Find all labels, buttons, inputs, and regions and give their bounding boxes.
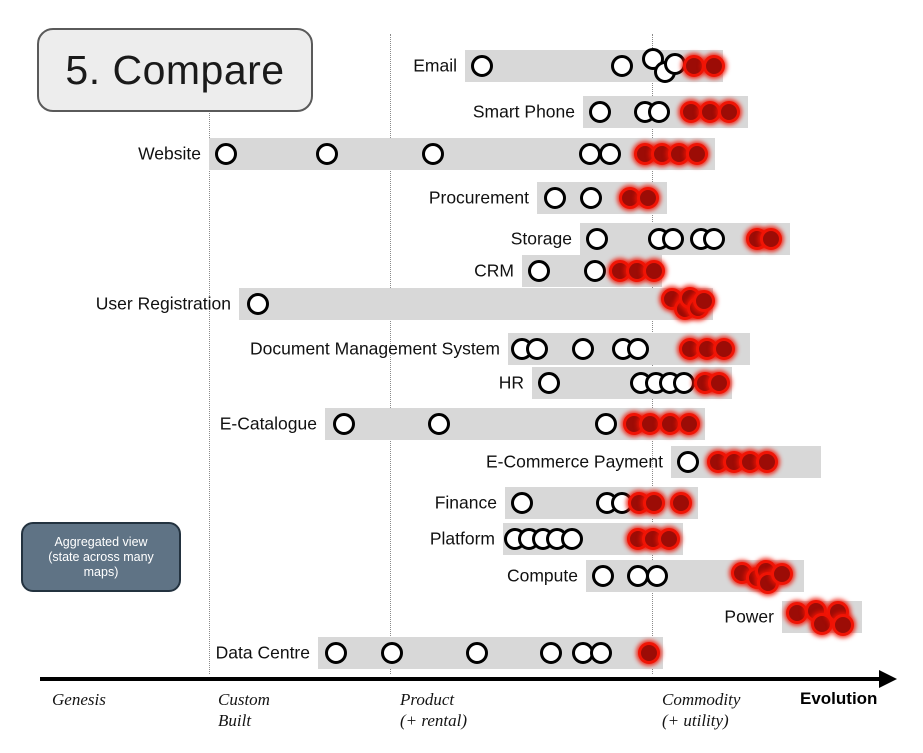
row-range-bar (239, 288, 713, 320)
commodity-dot[interactable] (832, 614, 854, 636)
component-dot[interactable] (595, 413, 617, 435)
component-row[interactable]: Power (0, 601, 923, 633)
evolution-axis-title: Evolution (800, 689, 877, 709)
component-dot[interactable] (599, 143, 621, 165)
axis-stage-custom: Custom Built (218, 689, 270, 731)
commodity-dot[interactable] (718, 101, 740, 123)
component-dot[interactable] (511, 492, 533, 514)
component-dot[interactable] (528, 260, 550, 282)
component-row[interactable]: Document Management System (0, 333, 923, 365)
component-dot[interactable] (580, 187, 602, 209)
component-dot[interactable] (648, 101, 670, 123)
component-dot[interactable] (662, 228, 684, 250)
component-dot[interactable] (561, 528, 583, 550)
component-row[interactable]: Email (0, 50, 923, 82)
component-dot[interactable] (471, 55, 493, 77)
component-dot[interactable] (592, 565, 614, 587)
component-dot[interactable] (586, 228, 608, 250)
commodity-dot[interactable] (703, 55, 725, 77)
commodity-dot[interactable] (708, 372, 730, 394)
commodity-dot[interactable] (683, 55, 705, 77)
component-dot[interactable] (572, 338, 594, 360)
component-dot[interactable] (540, 642, 562, 664)
commodity-dot[interactable] (643, 260, 665, 282)
component-row[interactable]: User Registration (0, 288, 923, 320)
note-line-2: (state across many (48, 550, 154, 565)
wardley-compare-diagram: 5. Compare EmailSmart PhoneWebsiteProcur… (0, 0, 923, 753)
commodity-dot[interactable] (760, 228, 782, 250)
component-row[interactable]: Smart Phone (0, 96, 923, 128)
component-row[interactable]: Website (0, 138, 923, 170)
commodity-dot[interactable] (670, 492, 692, 514)
axis-stage-commodity: Commodity (+ utility) (662, 689, 740, 731)
row-label: Document Management System (250, 339, 500, 360)
row-label: HR (499, 373, 524, 394)
component-dot[interactable] (589, 101, 611, 123)
commodity-dot[interactable] (686, 143, 708, 165)
component-dot[interactable] (627, 338, 649, 360)
row-label: Email (413, 56, 457, 77)
commodity-dot[interactable] (678, 413, 700, 435)
component-row[interactable]: E-Catalogue (0, 408, 923, 440)
component-row[interactable]: Finance (0, 487, 923, 519)
component-row[interactable]: CRM (0, 255, 923, 287)
component-row[interactable]: Procurement (0, 182, 923, 214)
component-dot[interactable] (325, 642, 347, 664)
aggregated-view-note: Aggregated view (state across many maps) (21, 522, 181, 592)
commodity-dot[interactable] (639, 413, 661, 435)
row-label: E-Commerce Payment (486, 452, 663, 473)
row-label: Website (138, 144, 201, 165)
row-label: Data Centre (216, 643, 310, 664)
component-dot[interactable] (538, 372, 560, 394)
component-dot[interactable] (677, 451, 699, 473)
row-label: E-Catalogue (220, 414, 317, 435)
component-row[interactable]: HR (0, 367, 923, 399)
row-label: Compute (507, 566, 578, 587)
row-label: Smart Phone (473, 102, 575, 123)
evolution-axis-arrow-icon (879, 670, 897, 688)
row-label: Platform (430, 529, 495, 550)
commodity-dot[interactable] (658, 528, 680, 550)
component-row[interactable]: Data Centre (0, 637, 923, 669)
component-dot[interactable] (526, 338, 548, 360)
component-dot[interactable] (316, 143, 338, 165)
component-dot[interactable] (466, 642, 488, 664)
row-label: CRM (474, 261, 514, 282)
commodity-dot[interactable] (756, 451, 778, 473)
component-dot[interactable] (611, 55, 633, 77)
component-dot[interactable] (544, 187, 566, 209)
commodity-dot[interactable] (771, 563, 793, 585)
row-label: Finance (435, 493, 497, 514)
component-dot[interactable] (590, 642, 612, 664)
commodity-dot[interactable] (637, 187, 659, 209)
component-dot[interactable] (381, 642, 403, 664)
component-dot[interactable] (215, 143, 237, 165)
note-line-1: Aggregated view (54, 535, 147, 550)
commodity-dot[interactable] (713, 338, 735, 360)
commodity-dot[interactable] (643, 492, 665, 514)
row-label: Procurement (429, 188, 529, 209)
component-dot[interactable] (333, 413, 355, 435)
note-line-3: maps) (84, 565, 119, 580)
component-dot[interactable] (422, 143, 444, 165)
evolution-axis-line (40, 677, 885, 681)
component-dot[interactable] (428, 413, 450, 435)
axis-stage-product: Product (+ rental) (400, 689, 467, 731)
component-dot[interactable] (673, 372, 695, 394)
row-label: Power (724, 607, 774, 628)
component-dot[interactable] (646, 565, 668, 587)
component-dot[interactable] (703, 228, 725, 250)
component-dot[interactable] (247, 293, 269, 315)
row-label: User Registration (96, 294, 231, 315)
component-row[interactable]: Storage (0, 223, 923, 255)
component-dot[interactable] (584, 260, 606, 282)
row-label: Storage (511, 229, 572, 250)
commodity-dot[interactable] (638, 642, 660, 664)
component-row[interactable]: E-Commerce Payment (0, 446, 923, 478)
commodity-dot[interactable] (693, 290, 715, 312)
axis-stage-genesis: Genesis (52, 689, 106, 710)
component-dot[interactable] (579, 143, 601, 165)
